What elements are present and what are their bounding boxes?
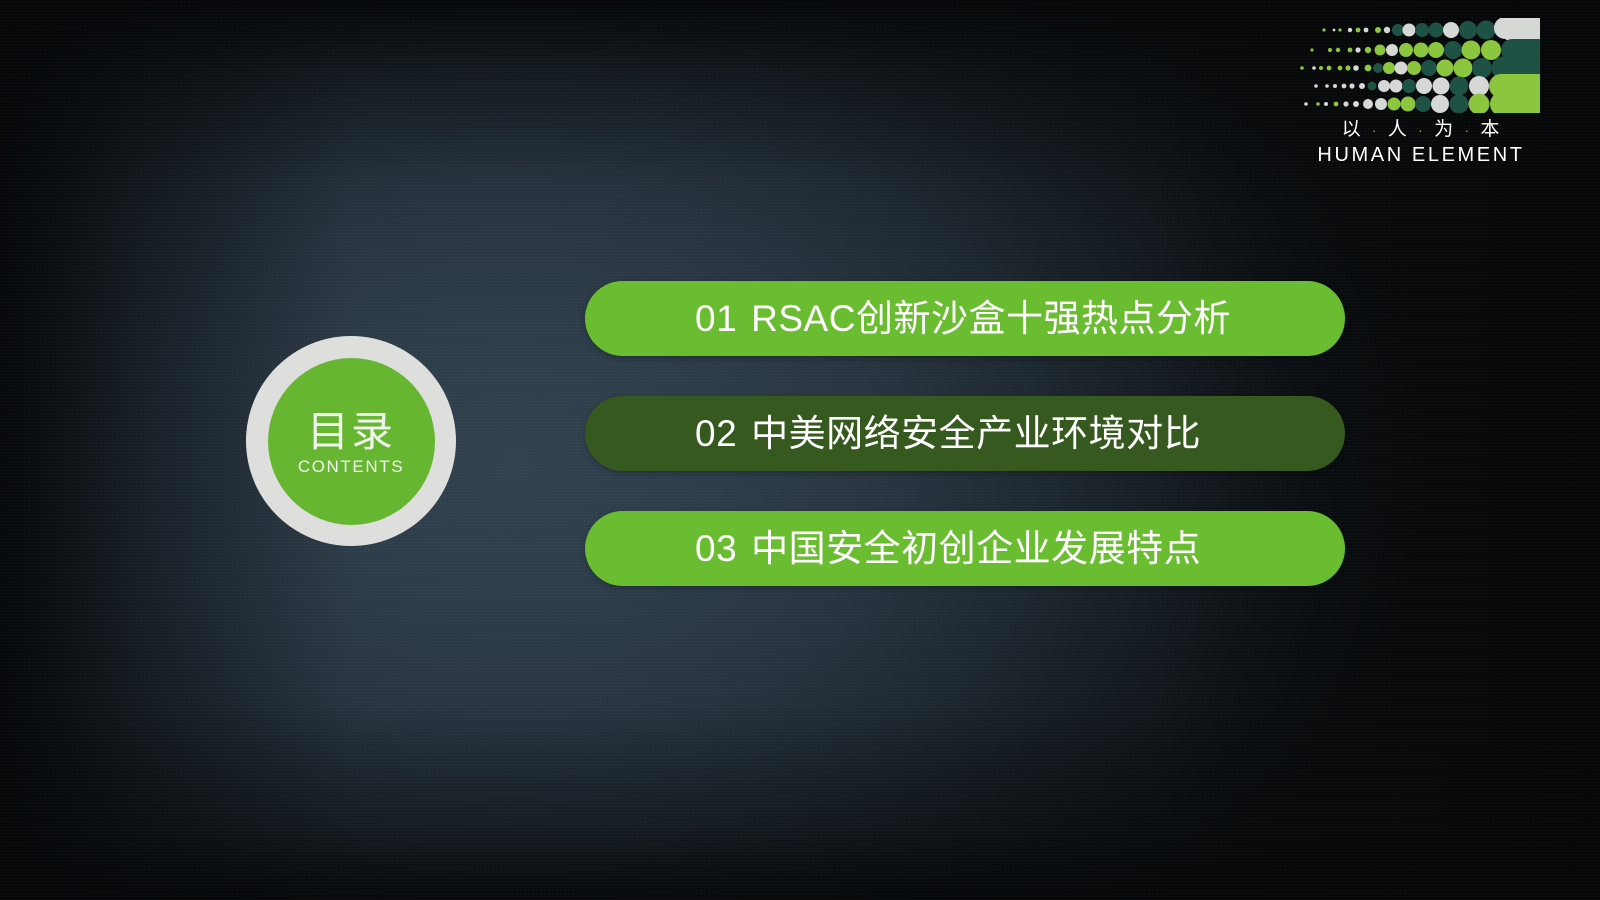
agenda-item-03-number: 03 <box>695 529 737 569</box>
logo-cn-char-3: 为 <box>1434 119 1454 140</box>
logo-name-cn: 以 · 人 · 为 · 本 <box>1306 118 1536 142</box>
agenda-item-01-number: 01 <box>695 299 737 339</box>
logo-cn-char-1: 以 <box>1342 119 1362 140</box>
agenda-list: 01 RSAC创新沙盒十强热点分析 02 中美网络安全产业环境对比 03 中国安… <box>585 281 1345 586</box>
contents-title-cn: 目录 <box>307 409 395 455</box>
presentation-slide: 目录 CONTENTS 01 RSAC创新沙盒十强热点分析 02 中美网络安全产… <box>0 0 1600 900</box>
logo-cn-separator-1: · <box>1368 122 1382 138</box>
logo-wordmark: 以 · 人 · 为 · 本 HUMAN ELEMENT <box>1306 118 1536 168</box>
logo-name-en: HUMAN ELEMENT <box>1306 142 1536 168</box>
brand-logo: 以 · 人 · 为 · 本 HUMAN ELEMENT <box>1296 18 1540 168</box>
dot-matrix-logo-icon <box>1296 18 1540 113</box>
agenda-item-02-label: 中美网络安全产业环境对比 <box>751 414 1201 454</box>
logo-cn-separator-3: · <box>1460 122 1474 138</box>
logo-cn-separator-2: · <box>1414 122 1428 138</box>
logo-cn-char-2: 人 <box>1388 119 1408 140</box>
logo-cn-char-4: 本 <box>1480 119 1500 140</box>
agenda-item-02[interactable]: 02 中美网络安全产业环境对比 <box>585 396 1345 471</box>
agenda-item-01[interactable]: 01 RSAC创新沙盒十强热点分析 <box>585 281 1345 356</box>
agenda-item-02-number: 02 <box>695 414 737 454</box>
agenda-item-03-label: 中国安全初创企业发展特点 <box>751 529 1201 569</box>
agenda-item-03[interactable]: 03 中国安全初创企业发展特点 <box>585 511 1345 586</box>
contents-title-en: CONTENTS <box>298 457 404 477</box>
contents-circle-inner: 目录 CONTENTS <box>268 358 435 525</box>
agenda-item-01-label: RSAC创新沙盒十强热点分析 <box>751 299 1231 339</box>
contents-circle: 目录 CONTENTS <box>246 336 456 546</box>
